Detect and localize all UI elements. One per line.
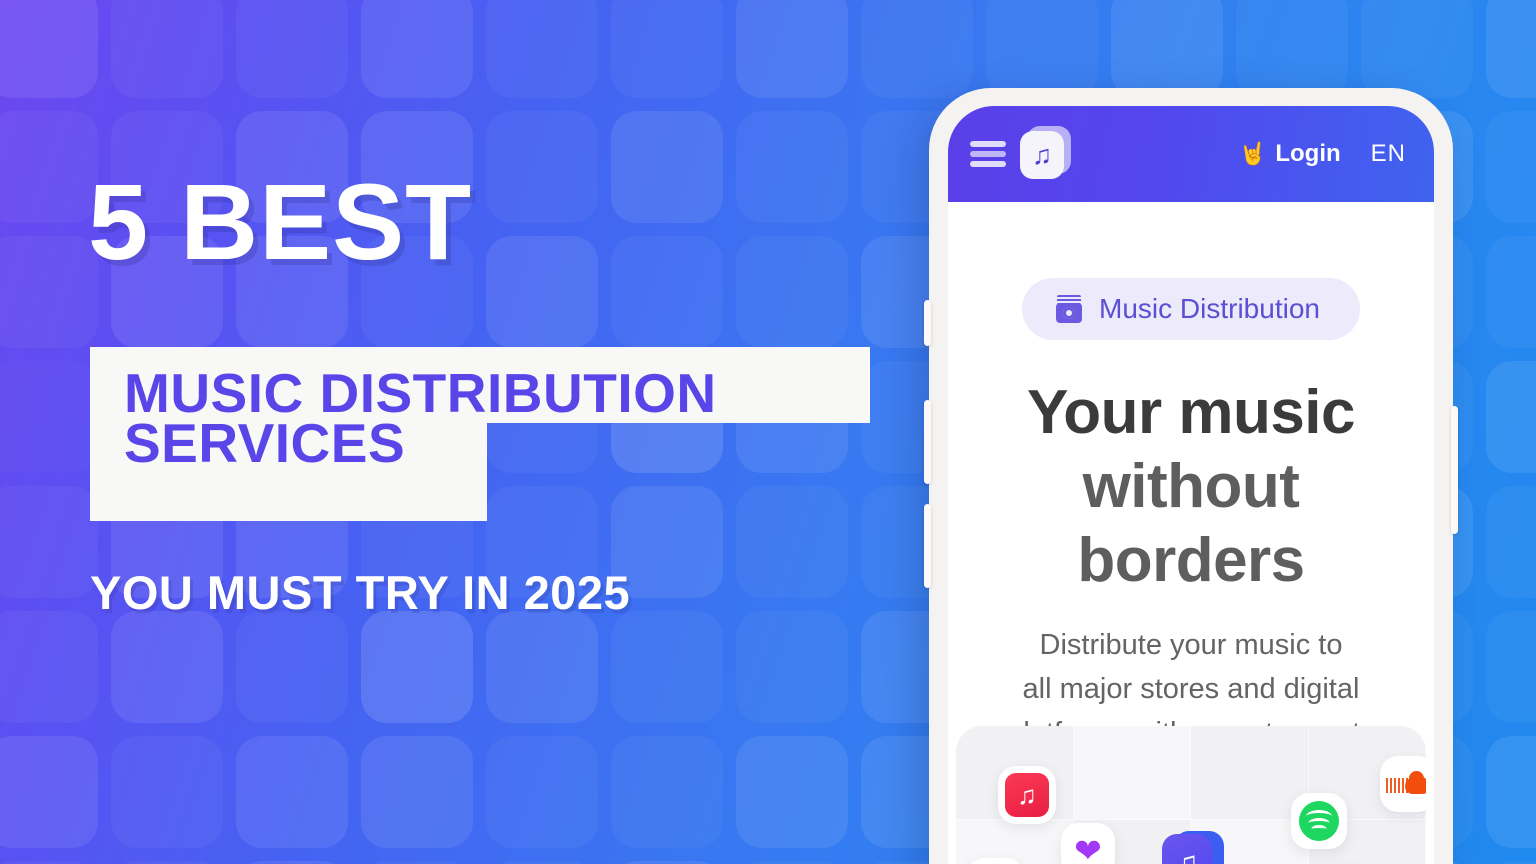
background-tile: [0, 361, 98, 473]
platform-logo-apple-music[interactable]: ♫: [998, 766, 1056, 824]
background-tile: [1236, 0, 1348, 98]
promo-tagline: YOU MUST TRY IN 2025: [90, 565, 630, 620]
background-tile: [486, 736, 598, 848]
background-tile: [611, 611, 723, 723]
background-tile: [0, 0, 98, 98]
background-tile: [361, 736, 473, 848]
music-note-app-icon: ♫: [1162, 829, 1224, 864]
platform-logo-deezer[interactable]: ❤: [1061, 823, 1115, 864]
background-tile: [1111, 0, 1223, 98]
platform-logo-collage: ♫ ❤ ♫: [956, 726, 1426, 864]
background-tile: [111, 611, 223, 723]
promo-title: 5 BEST: [88, 168, 888, 276]
music-note-glyph: ♫: [1032, 142, 1052, 169]
background-tile: [736, 0, 848, 98]
background-tile: [611, 0, 723, 98]
background-tile: [361, 611, 473, 723]
platform-logo-soundcloud[interactable]: [1380, 756, 1426, 812]
collage-cell: [956, 820, 1074, 864]
app-bar: ♫ 🤘 Login EN: [948, 106, 1434, 202]
background-tile: [0, 486, 98, 598]
login-label: Login: [1275, 140, 1340, 168]
apple-music-icon: ♫: [1005, 773, 1049, 817]
background-tile: [1486, 0, 1536, 98]
background-tile: [1486, 361, 1536, 473]
badge-label: Music Distribution: [1099, 293, 1320, 325]
background-tile: [1486, 736, 1536, 848]
mute-switch[interactable]: [924, 300, 931, 346]
rock-hand-icon: 🤘: [1239, 143, 1266, 165]
promo-highlight-block: MUSIC DISTRIBUTION SERVICES: [90, 347, 870, 521]
background-tile: [0, 736, 98, 848]
power-button[interactable]: [1451, 406, 1458, 534]
hero-subtitle-line-2: all major stores and digital: [1023, 673, 1360, 705]
collage-cell: [1074, 726, 1192, 820]
background-tile: [236, 0, 348, 98]
background-tile: [111, 736, 223, 848]
hamburger-menu-icon[interactable]: [970, 141, 1006, 167]
hero-title: Your music without borders: [968, 376, 1414, 597]
volume-down-button[interactable]: [924, 504, 931, 588]
soundcloud-icon: [1386, 771, 1426, 797]
background-tile: [111, 0, 223, 98]
background-tile: [1486, 111, 1536, 223]
promo-headline-block: 5 BEST: [88, 168, 888, 276]
music-distribution-badge[interactable]: Music Distribution: [1022, 278, 1360, 340]
background-tile: [236, 611, 348, 723]
platform-logo-music-app[interactable]: ♫: [1162, 829, 1224, 864]
background-tile: [736, 736, 848, 848]
hero-title-line-2: without borders: [1077, 452, 1304, 595]
background-tile: [986, 0, 1098, 98]
vinyl-record-icon: [1054, 294, 1084, 324]
promo-graphic: 5 BEST MUSIC DISTRIBUTION SERVICES YOU M…: [0, 0, 1536, 864]
spotify-icon: [1299, 801, 1339, 841]
background-tile: [1486, 236, 1536, 348]
background-tile: [1486, 486, 1536, 598]
background-tile: [486, 611, 598, 723]
background-tile: [0, 111, 98, 223]
language-selector[interactable]: EN: [1371, 140, 1406, 168]
music-note-app-icon[interactable]: ♫: [1020, 129, 1070, 179]
background-tile: [361, 0, 473, 98]
background-tile: [861, 0, 973, 98]
highlight-text-2: SERVICES: [124, 411, 405, 475]
hero-section: Music Distribution Your music without bo…: [948, 202, 1434, 756]
background-tile: [1361, 0, 1473, 98]
background-tile: [486, 0, 598, 98]
volume-up-button[interactable]: [924, 400, 931, 484]
background-tile: [611, 736, 723, 848]
phone-mockup: ♫ 🤘 Login EN Music Distribut: [929, 88, 1453, 864]
app-bar-actions: 🤘 Login EN: [1239, 140, 1406, 168]
background-tile: [1486, 611, 1536, 723]
phone-screen: ♫ 🤘 Login EN Music Distribut: [948, 106, 1434, 864]
background-tile: [236, 736, 348, 848]
background-tile: [736, 611, 848, 723]
background-tile: [0, 236, 98, 348]
login-button[interactable]: 🤘 Login: [1239, 140, 1341, 168]
hero-title-line-1: Your music: [1027, 378, 1355, 447]
hero-subtitle-line-1: Distribute your music to: [1040, 629, 1343, 661]
app-icon-front-card: ♫: [1020, 131, 1064, 179]
background-tile: [0, 611, 98, 723]
platform-logo-spotify[interactable]: [1291, 793, 1347, 849]
highlight-row-2: SERVICES: [90, 423, 487, 521]
deezer-heart-icon: ❤: [1074, 834, 1102, 864]
